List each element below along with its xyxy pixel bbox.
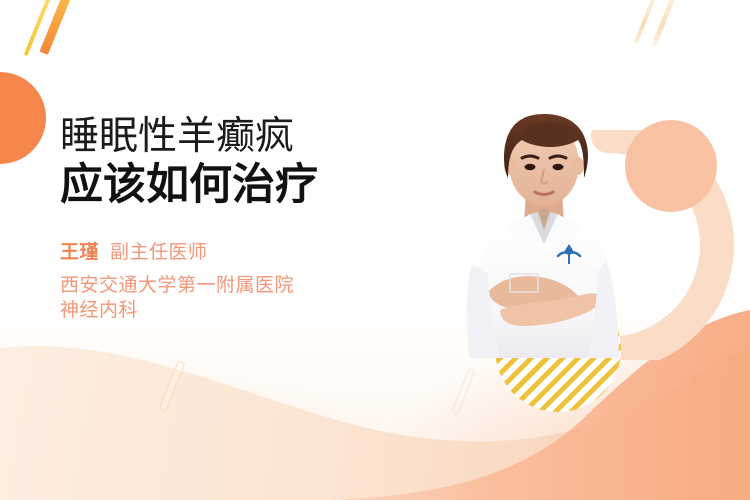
doctor-title: 副主任医师 [110,237,208,264]
hospital-name: 西安交通大学第一附属医院 [60,273,420,298]
doctor-name: 王瑾 [60,237,99,264]
eye-left [525,164,536,170]
ear-right [572,157,584,175]
health-topic-banner: 睡眠性羊癫疯 应该如何治疗 王瑾 副主任医师 西安交通大学第一附属医院 神经内科 [0,0,750,500]
eye-right [553,164,564,170]
department-name: 神经内科 [60,298,420,323]
title-line-2: 应该如何治疗 [60,159,420,211]
doctor-name-row: 王瑾 副主任医师 [60,237,420,264]
title-line-1: 睡眠性羊癫疯 [60,114,420,160]
doctor-portrait [438,96,650,364]
doctor-credit-block: 王瑾 副主任医师 西安交通大学第一附属医院 神经内科 [60,237,420,323]
headline-block: 睡眠性羊癫疯 应该如何治疗 王瑾 副主任医师 西安交通大学第一附属医院 神经内科 [60,114,420,323]
